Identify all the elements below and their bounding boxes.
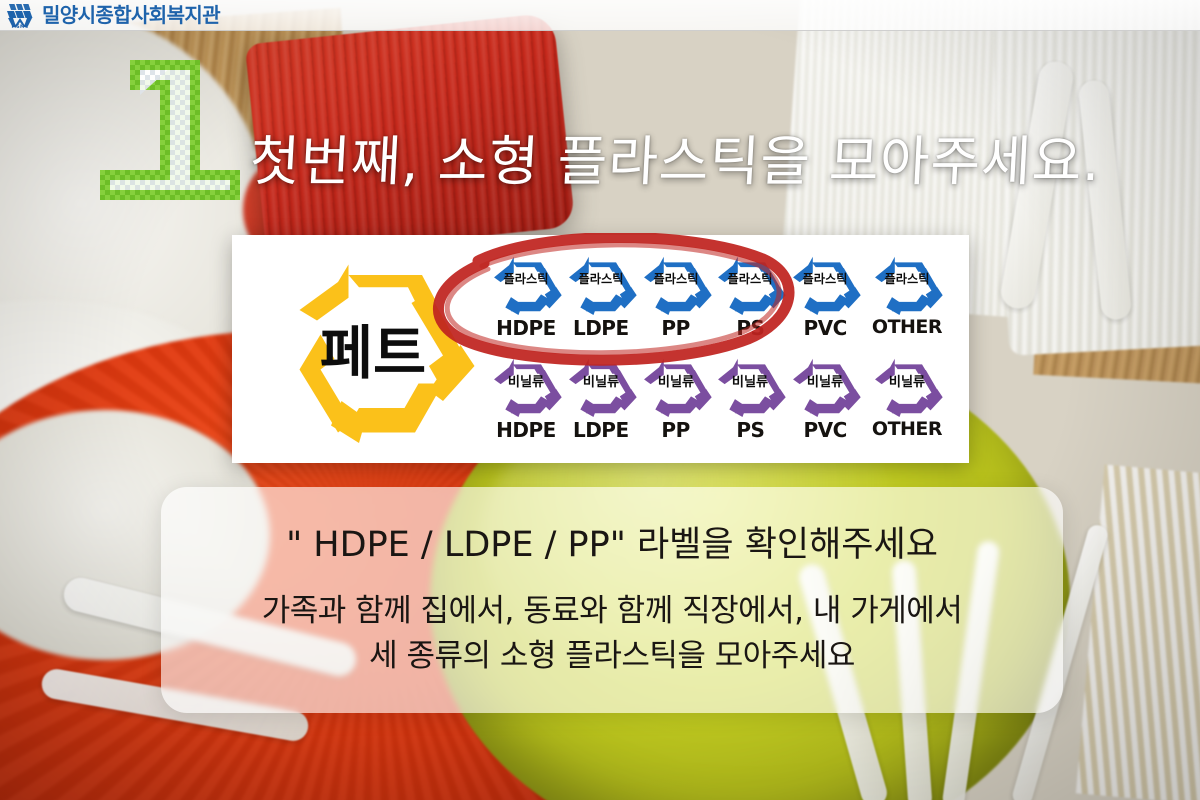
page-title: 첫번째, 소형 플라스틱을 모아주세요. <box>248 117 1152 196</box>
code-label: OTHER <box>864 316 950 338</box>
inner-label: 비닐류 <box>732 374 768 390</box>
recycle-triangle-icon: 플라스틱 <box>490 253 562 315</box>
header-bar: MSMC 밀양시종합사회복지관 <box>0 0 1200 31</box>
message-main-line: " HDPE / LDPE / PP" 라벨을 확인해주세요 <box>286 516 938 567</box>
organization-name: 밀양시종합사회복지관 <box>42 5 220 25</box>
inner-label: 플라스틱 <box>504 271 549 286</box>
code-label: PVC <box>789 316 861 340</box>
code-label: PP <box>640 316 712 340</box>
recycle-triangle-icon: 플라스틱 <box>789 253 861 315</box>
inner-label: 비닐류 <box>657 374 693 390</box>
inner-label: 비닐류 <box>807 374 843 390</box>
code-cell-ldpe-plastic[interactable]: 플라스틱 LDPE <box>565 253 637 340</box>
recycle-triangle-icon: 비닐류 <box>714 355 786 417</box>
code-label: HDPE <box>490 316 562 340</box>
mscw-emblem-icon: MSMC <box>5 1 35 29</box>
code-cell-hdpe-plastic[interactable]: 플라스틱 HDPE <box>490 253 562 340</box>
code-cell-hdpe-vinyl[interactable]: 비닐류 HDPE <box>490 355 562 442</box>
code-cell-ps-vinyl[interactable]: 비닐류 PS <box>714 355 786 442</box>
code-label: PS <box>714 316 786 340</box>
recycle-triangle-icon: 플라스틱 <box>565 253 637 315</box>
code-label: PVC <box>789 418 861 442</box>
step-number-1-graphic <box>95 45 270 215</box>
slide-stage: MSMC 밀양시종합사회복지관 <box>0 0 1200 800</box>
recycle-codes-panel: 페트 플라스틱 <box>232 235 969 463</box>
code-label: PP <box>640 418 712 442</box>
logo-subtext: MSMC <box>5 25 35 30</box>
inner-label: 플라스틱 <box>885 271 930 286</box>
code-label: LDPE <box>565 316 637 340</box>
plastic-row: 플라스틱 HDPE <box>490 253 950 340</box>
code-cell-pvc-plastic[interactable]: 플라스틱 PVC <box>789 253 861 340</box>
inner-label: 비닐류 <box>508 374 544 390</box>
inner-label: 플라스틱 <box>653 271 698 286</box>
inner-label: 비닐류 <box>889 374 925 390</box>
recycle-triangle-icon: 비닐류 <box>565 355 637 417</box>
recycle-triangle-icon: 비닐류 <box>871 355 943 417</box>
recycle-triangle-icon: 플라스틱 <box>714 253 786 315</box>
code-cell-other-vinyl[interactable]: 비닐류 OTHER <box>864 355 950 440</box>
code-cell-pvc-vinyl[interactable]: 비닐류 PVC <box>789 355 861 442</box>
recycle-triangle-icon: 플라스틱 <box>640 253 712 315</box>
inner-label: 플라스틱 <box>728 271 773 286</box>
code-label: LDPE <box>565 418 637 442</box>
message-panel: " HDPE / LDPE / PP" 라벨을 확인해주세요 가족과 함께 집에… <box>161 487 1063 713</box>
recycle-triangle-icon: 비닐류 <box>789 355 861 417</box>
recycle-triangle-icon: 플라스틱 <box>871 253 943 315</box>
pet-recycle-symbol-icon: 페트 <box>268 257 478 447</box>
inner-label: 플라스틱 <box>578 271 623 286</box>
code-label: OTHER <box>864 418 950 440</box>
inner-label: 플라스틱 <box>803 271 848 286</box>
vinyl-row: 비닐류 HDPE <box>490 355 950 442</box>
code-cell-other-plastic[interactable]: 플라스틱 OTHER <box>864 253 950 338</box>
code-cell-pp-plastic[interactable]: 플라스틱 PP <box>640 253 712 340</box>
code-cell-ps-plastic[interactable]: 플라스틱 PS <box>714 253 786 340</box>
recycle-triangle-icon: 비닐류 <box>640 355 712 417</box>
recycle-code-rows: 플라스틱 HDPE <box>490 253 950 442</box>
recycle-triangle-icon: 비닐류 <box>490 355 562 417</box>
code-cell-ldpe-vinyl[interactable]: 비닐류 LDPE <box>565 355 637 442</box>
message-sub-line-2: 세 종류의 소형 플라스틱을 모아주세요 <box>369 634 855 678</box>
pet-label: 페트 <box>320 319 426 387</box>
code-label: HDPE <box>490 418 562 442</box>
message-sub-line-1: 가족과 함께 집에서, 동료와 함께 직장에서, 내 가게에서 <box>262 589 963 633</box>
code-cell-pp-vinyl[interactable]: 비닐류 PP <box>640 355 712 442</box>
inner-label: 비닐류 <box>583 374 619 390</box>
code-label: PS <box>714 418 786 442</box>
